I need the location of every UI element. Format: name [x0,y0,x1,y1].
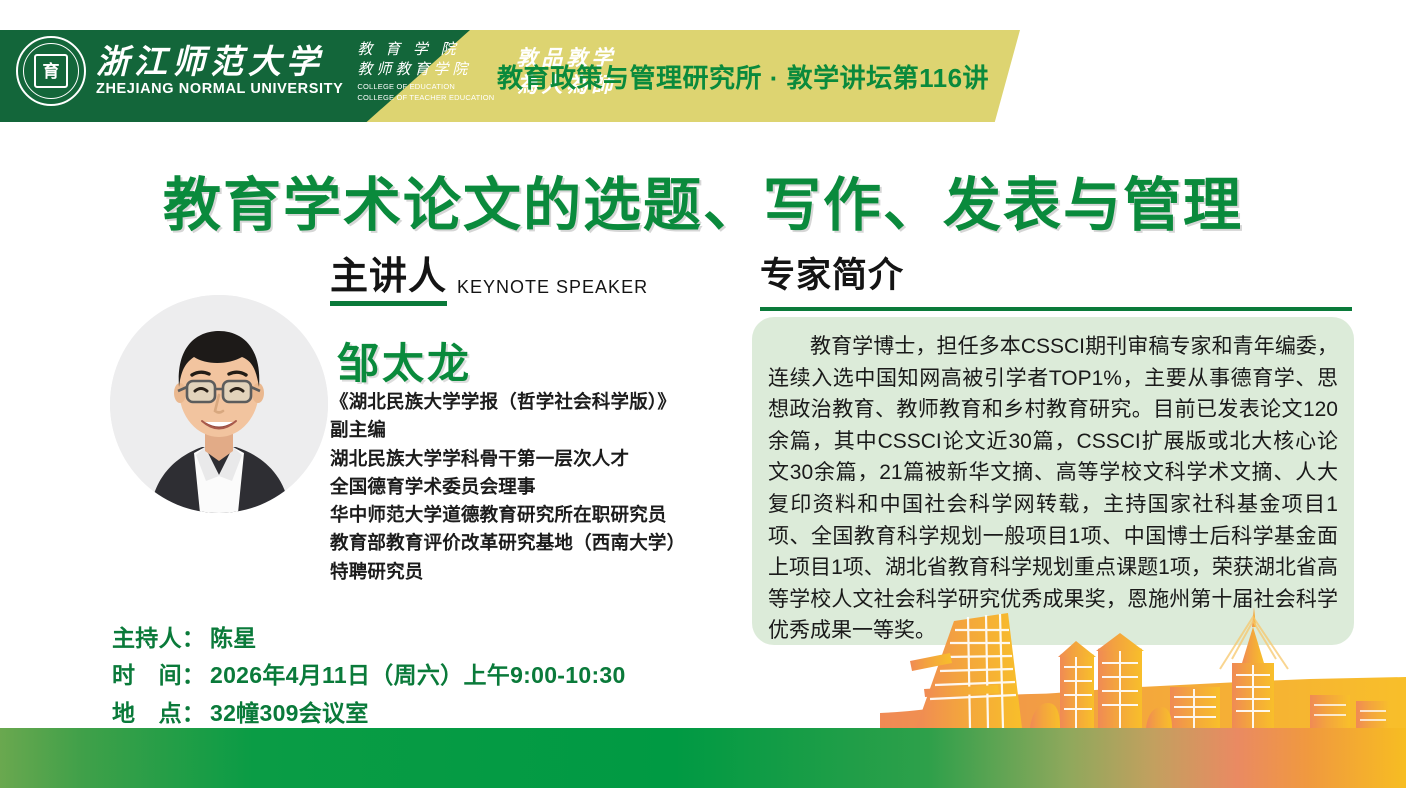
college-name-cn-line2: 教师教育学院 [357,59,494,79]
poster-root: 育 浙江师范大学 ZHEJIANG NORMAL UNIVERSITY 教 育 … [0,0,1406,788]
credential-item: 湖北民族大学学科骨干第一层次人才 [330,445,760,473]
credential-item: 全国德育学术委员会理事 [330,473,760,501]
speaker-portrait-avatar [110,295,328,513]
speaker-heading-cn: 主讲人 [330,258,447,306]
page-title: 教育学术论文的选题、写作、发表与管理 [0,158,1406,242]
event-details: 主持人： 陈星 时 间： 2026年4月11日（周六）上午9:00-10:30 … [112,620,626,732]
bio-section-heading: 专家简介 [760,258,1352,295]
speaker-heading-en: KEYNOTE SPEAKER [457,277,648,306]
college-name-en-line2: COLLEGE OF TEACHER EDUCATION [357,93,494,103]
credential-item: 《湖北民族大学学报（哲学社会科学版）》 [330,388,760,416]
credential-item: 副主编 [330,416,760,444]
bio-card: 教育学博士，担任多本CSSCI期刊审稿专家和青年编委，连续入选中国知网高被引学者… [752,317,1354,645]
bio-heading-text: 专家简介 [760,258,1352,295]
university-name-en: ZHEJIANG NORMAL UNIVERSITY [96,81,343,97]
poster-header: 育 浙江师范大学 ZHEJIANG NORMAL UNIVERSITY 教 育 … [0,30,1406,122]
credential-item: 教育部教育评价改革研究基地（西南大学） [330,529,760,557]
university-seal-icon: 育 [16,36,86,106]
credential-item: 华中师范大学道德教育研究所在职研究员 [330,501,760,529]
university-name-block: 浙江师范大学 ZHEJIANG NORMAL UNIVERSITY [96,45,343,98]
university-name-cn: 浙江师范大学 [96,45,343,80]
credential-item: 特聘研究员 [330,558,760,586]
bio-paragraph: 教育学博士，担任多本CSSCI期刊审稿专家和青年编委，连续入选中国知网高被引学者… [768,331,1338,647]
event-host-row: 主持人： 陈星 [112,620,626,657]
speaker-name: 邹太龙 [337,330,472,391]
college-name-en-line1: COLLEGE OF EDUCATION [357,82,494,92]
bio-heading-underline [760,307,1352,311]
event-time-label: 时 间： [112,657,210,694]
campus-skyline-illustration [880,603,1406,728]
seal-inner-glyph: 育 [34,54,68,88]
event-place-value: 32幢309会议室 [210,695,369,732]
event-place-row: 地 点： 32幢309会议室 [112,695,626,732]
header-banner-title: 教育政策与管理研究所 · 敦学讲坛第116讲 [497,30,989,122]
event-time-row: 时 间： 2026年4月11日（周六）上午9:00-10:30 [112,657,626,694]
event-place-label: 地 点： [112,695,210,732]
event-host-label: 主持人： [112,620,210,657]
event-time-value: 2026年4月11日（周六）上午9:00-10:30 [210,657,626,694]
footer-gradient-bar [0,728,1406,788]
event-host-value: 陈星 [210,620,257,657]
college-name-block: 教 育 学 院 教师教育学院 COLLEGE OF EDUCATION COLL… [357,39,494,103]
speaker-section-heading: 主讲人 KEYNOTE SPEAKER [330,258,648,306]
college-name-cn-line1: 教 育 学 院 [357,39,494,59]
speaker-credentials-list: 《湖北民族大学学报（哲学社会科学版）》 副主编 湖北民族大学学科骨干第一层次人才… [330,388,760,586]
